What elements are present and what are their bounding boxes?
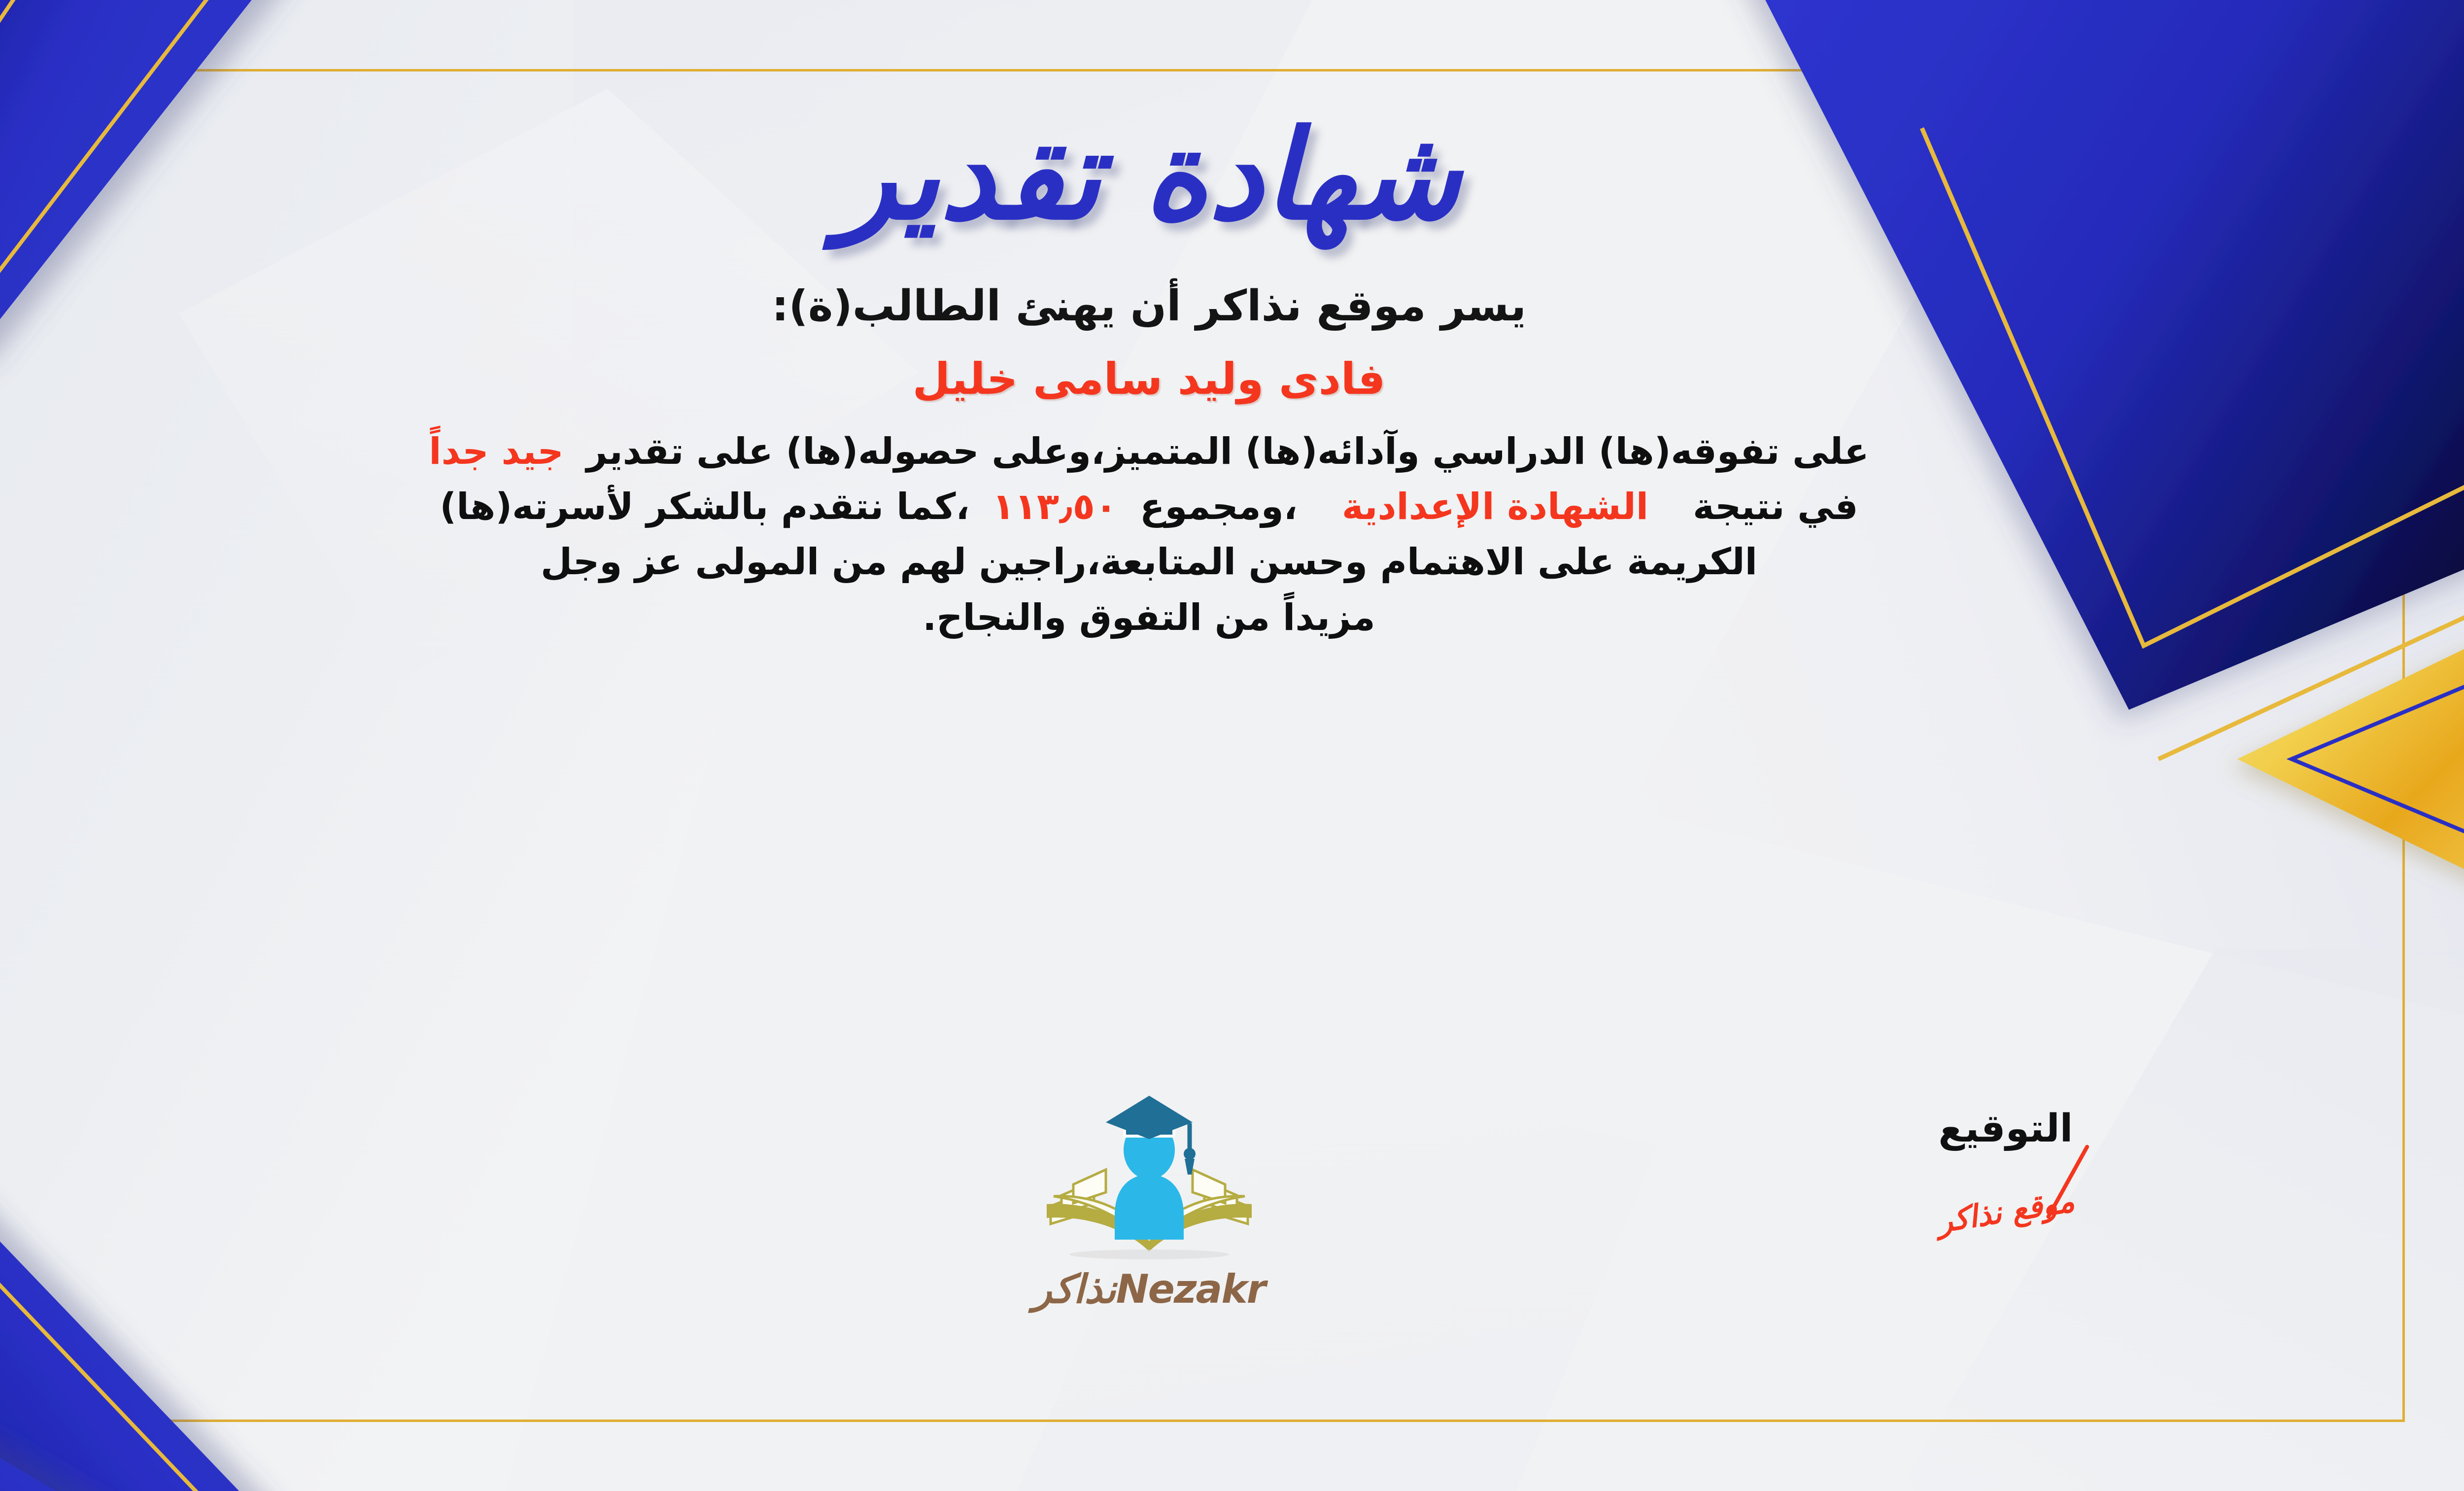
handwritten-signature: موقع نذاكر [1935,1183,2077,1240]
signature-block: التوقيع موقع نذاكر [1937,1107,2075,1229]
body-line-2-suffix: ،كما نتقدم بالشكر لأسرته(ها) [440,485,969,528]
body-line-4: مزيداً من التفوق والنجاح. [0,590,2390,645]
congratulation-intro: يسر موقع نذاكر أن يهنئ الطالب(ة): [772,281,1526,331]
page-title: شهادة تقدير [837,99,1461,253]
body-line-1: على تفوقه(ها) الدراسي وآدائه(ها) المتميز… [0,424,2390,479]
total-score-value: ١١٣٫٥٠ [992,485,1117,528]
certificate-footer: التوقيع موقع نذاكر [0,1092,2390,1397]
brand-logo-text: Nezakrنذاكر [996,1266,1302,1312]
graduate-open-book-icon [1036,1092,1263,1269]
brand-logo-latin: Nezakr [1116,1266,1265,1312]
brand-logo: Nezakrنذاكر [996,1092,1302,1312]
body-line-2-mid: ،ومجموع [1140,485,1298,528]
body-line-3: الكريمة على الاهتمام وحسن المتابعة،راجين… [0,534,2390,589]
body-line-1-text: على تفوقه(ها) الدراسي وآدائه(ها) المتميز… [586,430,1869,473]
certificate-page: شهادة تقدير يسر موقع نذاكر أن يهنئ الطال… [0,0,2464,1491]
certificate-type-value: الشهادة الإعدادية [1342,485,1648,528]
signature-label: التوقيع [1937,1107,2075,1151]
grade-value: جيد جداً [429,430,564,473]
certificate-body: على تفوقه(ها) الدراسي وآدائه(ها) المتميز… [0,424,2390,646]
body-line-2: في نتيجةالشهادة الإعدادية،ومجموع١١٣٫٥٠،ك… [0,479,2390,534]
student-name: فادى وليد سامى خليل [913,353,1386,404]
brand-logo-arabic: نذاكر [1033,1266,1116,1312]
body-line-2-prefix: في نتيجة [1693,485,1858,528]
certificate-content: شهادة تقدير يسر موقع نذاكر أن يهنئ الطال… [0,79,2390,1412]
